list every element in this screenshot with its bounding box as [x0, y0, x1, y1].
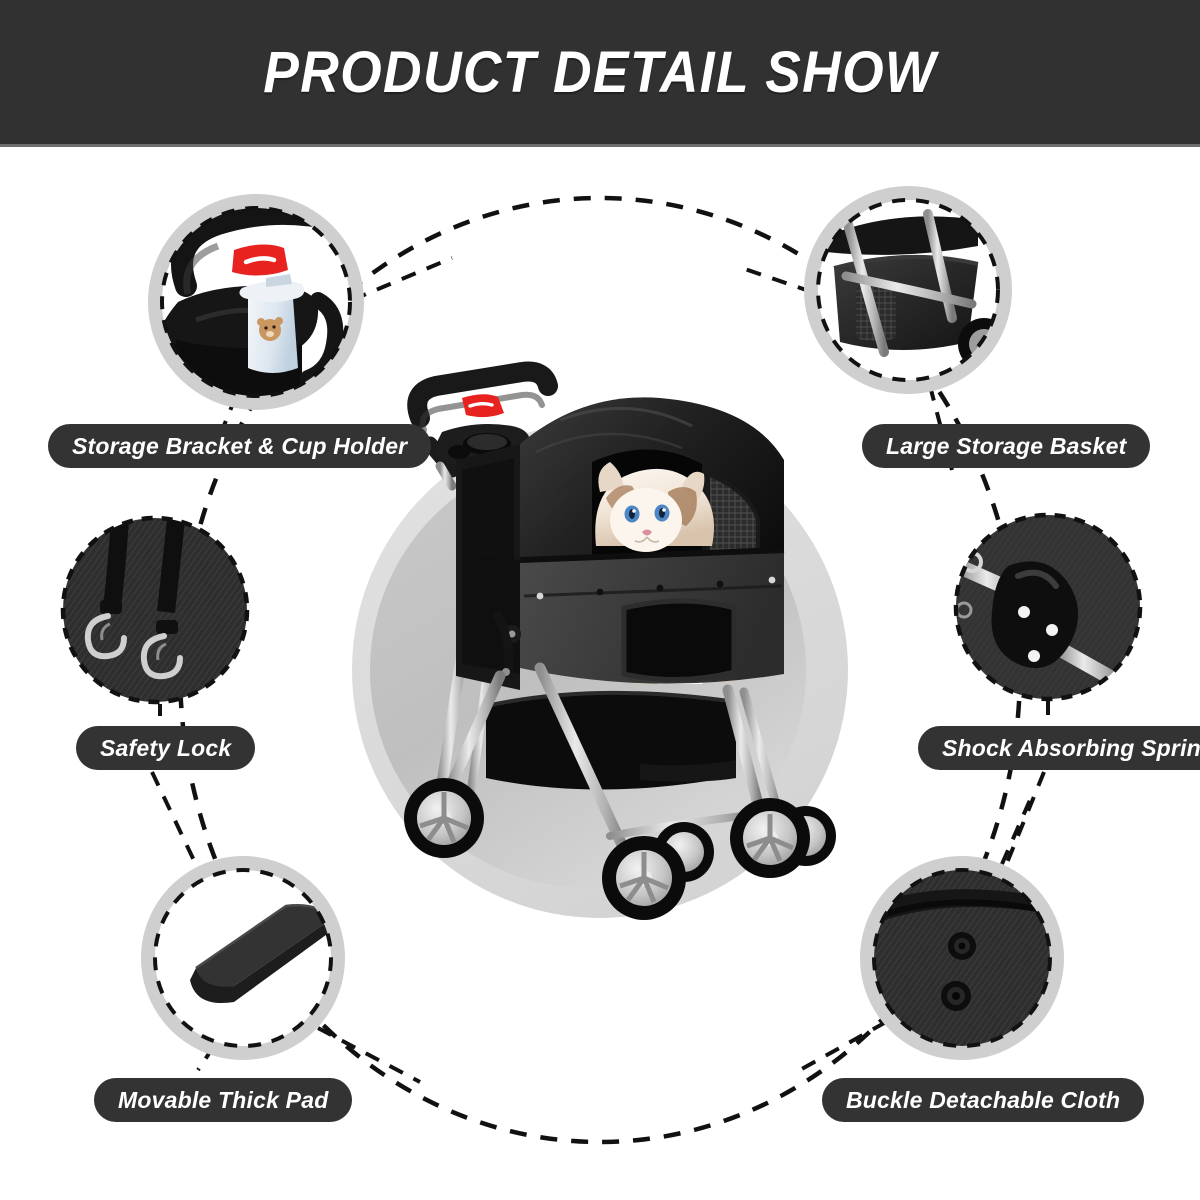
- leader-basket-to-ellipse: [742, 268, 812, 292]
- cabin-front: [470, 550, 784, 684]
- lower-storage-basket: [486, 693, 736, 790]
- wheel-rear-right-outer: [730, 798, 810, 878]
- callout-label-buckle-detachable-cloth[interactable]: Buckle Detachable Cloth: [822, 1078, 1144, 1122]
- leader-buckle-top: [1002, 800, 1030, 864]
- snap-button-upper: [948, 932, 976, 960]
- leader-buckle-left: [800, 1022, 886, 1070]
- callout-label-large-storage-basket[interactable]: Large Storage Basket: [862, 424, 1150, 468]
- red-release-button: [462, 394, 504, 417]
- callout-photo-shock-absorbing-spring: [956, 515, 1140, 699]
- illustration-layer: [0, 0, 1200, 1200]
- leader-storage-to-ellipse: [352, 258, 452, 300]
- callout-label-safety-lock[interactable]: Safety Lock: [76, 726, 255, 770]
- callout-label-movable-thick-pad[interactable]: Movable Thick Pad: [94, 1078, 352, 1122]
- wheel-rear-left: [404, 778, 484, 858]
- callout-label-shock-absorbing-spring[interactable]: Shock Absorbing Spring: [918, 726, 1200, 770]
- callout-photo-movable-thick-pad: [141, 856, 345, 1060]
- hero-product-pet-stroller: [404, 372, 836, 920]
- callout-photo-large-storage-basket: [804, 186, 1012, 394]
- cup-in-holder: [239, 274, 304, 373]
- infographic-root: PRODUCT DETAIL SHOW: [0, 0, 1200, 1200]
- leader-spring-down: [1000, 772, 1044, 880]
- snap-button-lower: [941, 981, 971, 1011]
- callout-photo-storage-bracket-cup-holder: [148, 194, 364, 410]
- wheel-front-outer: [602, 836, 686, 920]
- callout-label-storage-bracket-cup-holder[interactable]: Storage Bracket & Cup Holder: [48, 424, 431, 468]
- callout-photo-buckle-detachable-cloth: [860, 856, 1064, 1060]
- callout-photo-safety-lock: [63, 518, 247, 702]
